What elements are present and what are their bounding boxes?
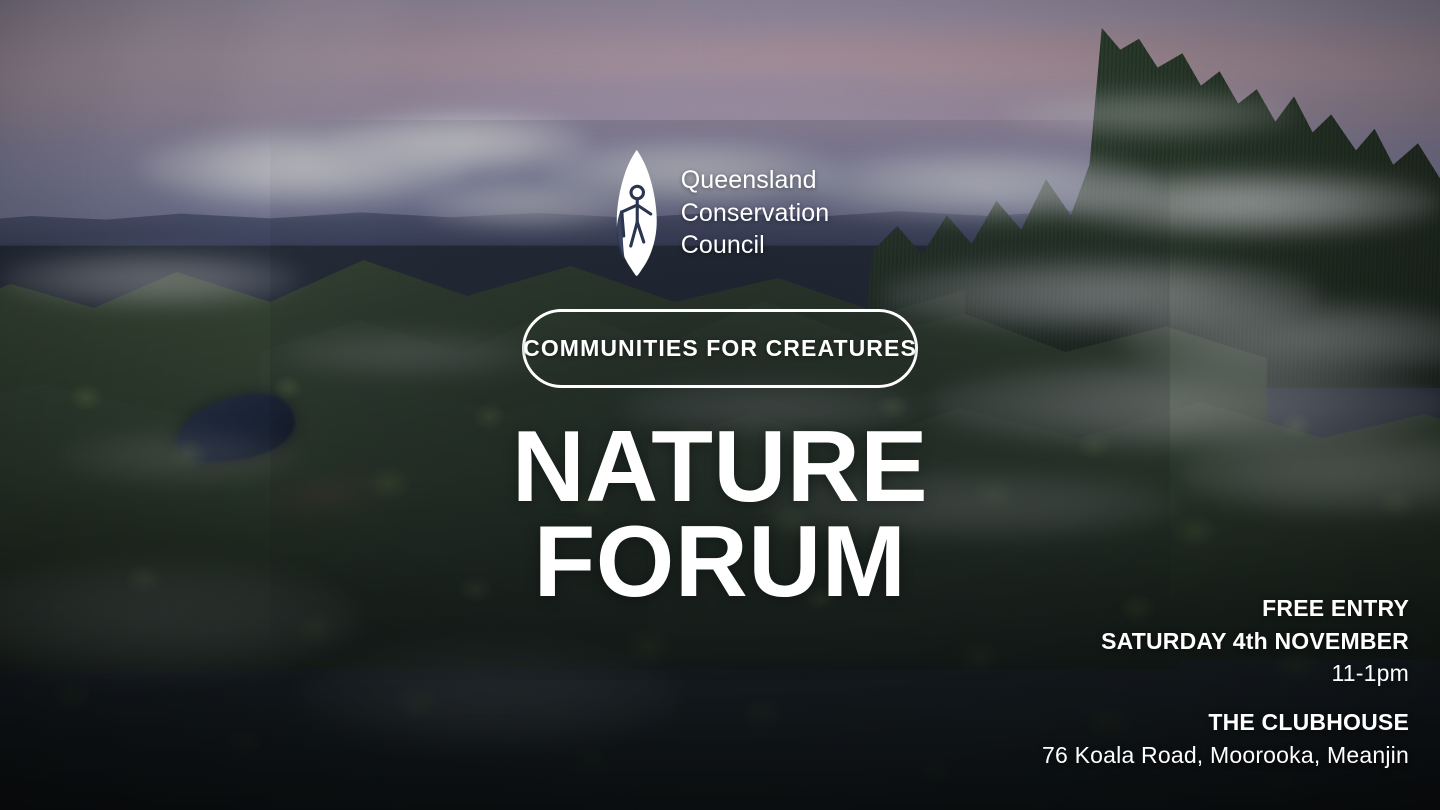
program-badge-label: COMMUNITIES FOR CREATURES [523, 335, 917, 362]
title-line-1: NATURE [512, 420, 928, 515]
venue-address: 76 Koala Road, Moorooka, Meanjin [1042, 739, 1409, 772]
program-badge: COMMUNITIES FOR CREATURES [522, 309, 918, 388]
event-date: SATURDAY 4th NOVEMBER [1042, 625, 1409, 658]
logo-line-2: Conservation [681, 197, 830, 230]
event-poster: Queensland Conservation Council COMMUNIT… [0, 0, 1440, 810]
details-spacer [1042, 690, 1409, 706]
title-line-2: FORUM [512, 515, 928, 610]
venue-name: THE CLUBHOUSE [1042, 706, 1409, 739]
entry-price: FREE ENTRY [1042, 592, 1409, 625]
logo-wordmark: Queensland Conservation Council [681, 164, 830, 262]
logo-line-3: Council [681, 229, 830, 262]
organisation-logo: Queensland Conservation Council [611, 150, 830, 276]
event-details: FREE ENTRY SATURDAY 4th NOVEMBER 11-1pm … [1042, 592, 1409, 771]
page-title: NATURE FORUM [512, 420, 928, 610]
logo-line-1: Queensland [681, 164, 830, 197]
event-time: 11-1pm [1042, 657, 1409, 690]
poster-content: Queensland Conservation Council COMMUNIT… [0, 0, 1440, 810]
leaf-with-person-icon [611, 150, 663, 276]
